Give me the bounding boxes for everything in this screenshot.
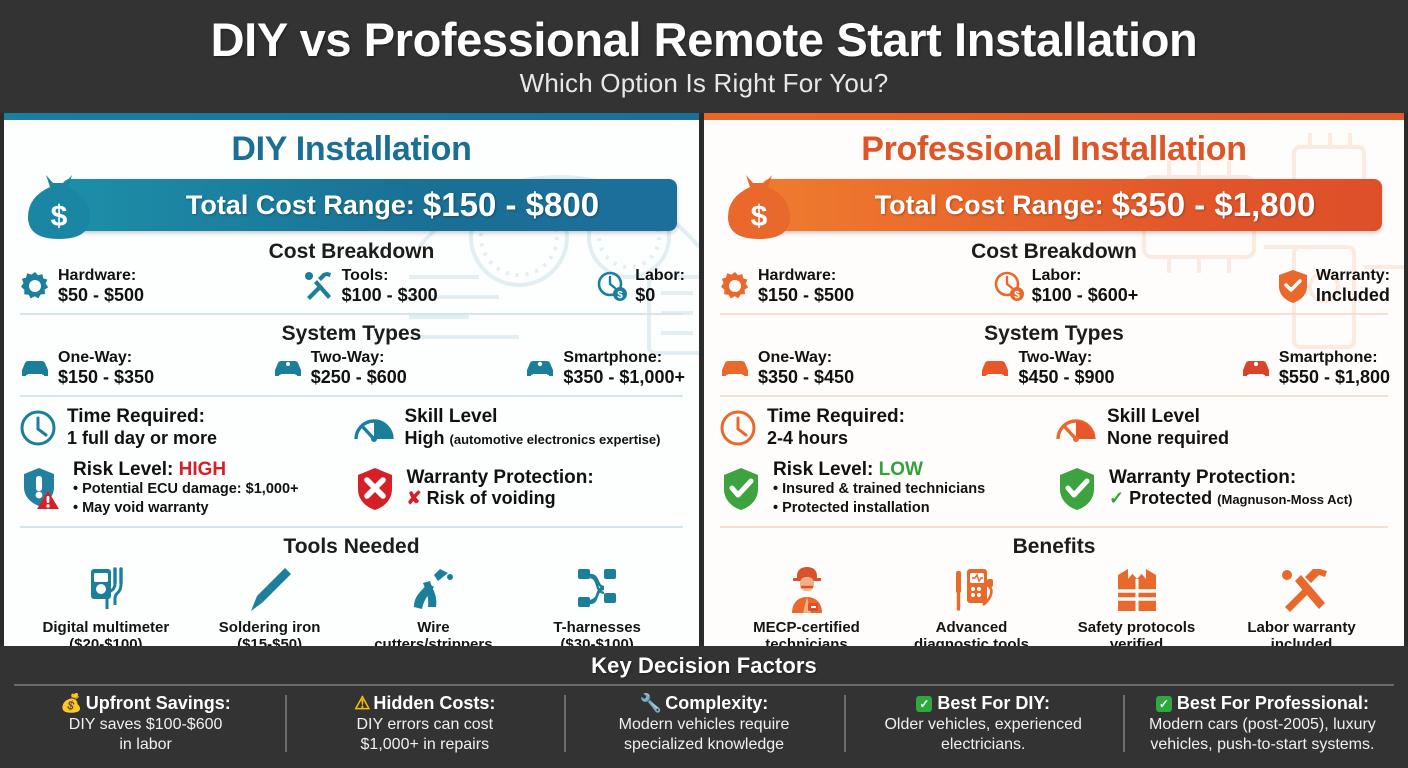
diy-tool-soldering-iron: Soldering iron ($15-$50) [188,563,352,646]
pro-benefit-line1: Safety protocols [1078,619,1196,636]
diy-system-smartphone: Smartphone: $350 - $1,000+ [523,349,685,387]
pro-system-value: $550 - $1,800 [1279,367,1390,387]
pro-risk-bullet-2: • Protected installation [773,499,985,518]
diy-tool-line2: ($15-$50) [237,636,302,646]
money-bag-icon: 💰 [60,693,82,713]
pro-benefit-line2: verified [1110,636,1163,646]
pro-benefit-line2: diagnostic tools [914,636,1029,646]
diy-skill-level: Skill Level High (automotive electronics… [352,406,686,449]
car-icon [718,355,752,381]
footer-item-body: Modern vehicles require specialized know… [572,715,835,754]
footer-divider [14,684,1394,686]
diy-system-value: $350 - $1,000+ [563,367,685,387]
pro-system-one-way: One-Way: $350 - $450 [718,349,854,387]
diy-tool-line1: Soldering iron [219,619,321,636]
diy-column: DIY Installation $ Total Cost Range: $15… [0,113,704,646]
pro-risk-warranty-row: Risk Level: LOW • Insured & trained tech… [718,459,1390,519]
svg-text:$: $ [751,200,768,233]
pro-warranty-protection: Warranty Protection: ✓ Protected (Magnus… [1054,459,1390,519]
diy-skill-note: (automotive electronics expertise) [450,432,661,447]
key-decision-factors: Key Decision Factors 💰Upfront Savings: D… [0,646,1408,768]
footer-item-complexity: 🔧Complexity: Modern vehicles require spe… [564,693,843,754]
diy-tool-line2: cutters/strippers [374,636,492,646]
money-bag-icon: $ [720,171,798,239]
pro-cost-item-value: $100 - $600+ [1032,285,1139,305]
pro-cost-label: Total Cost Range: [875,190,1104,221]
pro-benefit-diagnostic-tools: Advanced diagnostic tools [889,563,1054,646]
footer-item-body: Older vehicles, experienced electricians… [852,715,1115,754]
pro-warranty-value: Protected [1129,488,1212,508]
pro-top-accent-bar [704,113,1404,120]
diy-system-label: Smartphone: [563,349,685,367]
diy-cost-item-value: $0 [635,285,685,305]
pro-system-label: Two-Way: [1018,349,1114,367]
header: DIY vs Professional Remote Start Install… [0,0,1408,113]
car-icon [271,355,305,381]
pro-risk-label: Risk Level: [773,459,873,480]
pro-system-value: $450 - $900 [1018,367,1114,387]
t-harness-icon [570,563,624,617]
pro-benefit-line2: included [1271,636,1333,646]
diy-tool-line2: ($20-$100) [69,636,142,646]
pro-skill-level: Skill Level None required [1054,406,1390,449]
pro-cost-item-labor: $ Labor: $100 - $600+ [992,267,1139,305]
gear-icon [718,269,752,303]
pro-skill-label: Skill Level [1107,406,1229,428]
pro-system-types-row: One-Way: $350 - $450 Two-Way: $450 - $9 [718,349,1390,387]
pro-benefit-technician: MECP-certified technicians [724,563,889,646]
page-title: DIY vs Professional Remote Start Install… [211,16,1198,65]
diy-system-one-way: One-Way: $150 - $350 [18,349,154,387]
diy-system-types-row: One-Way: $150 - $350 Two-Way: [18,349,685,387]
footer-item-upfront-savings: 💰Upfront Savings: DIY saves $100-$600 in… [6,693,285,754]
pro-benefit-line1: MECP-certified [753,619,860,636]
pro-cost-item-value: $150 - $500 [758,285,854,305]
divider [720,526,1388,528]
diy-cost-item-tools: Tools: $100 - $300 [302,267,438,305]
diy-warranty-label: Warranty Protection: [407,467,594,489]
diy-cost-item-label: Hardware: [58,267,144,285]
pro-cost-item-value: Included [1316,285,1390,305]
pro-cost-item-label: Hardware: [758,267,854,285]
pro-benefit-labor-warranty: Labor warranty included [1219,563,1384,646]
pro-system-label: One-Way: [758,349,854,367]
pro-risk-level: Risk Level: LOW • Insured & trained tech… [718,459,1054,519]
diy-warranty-protection: Warranty Protection: ✘ Risk of voiding [352,459,686,519]
pro-risk-value: LOW [879,459,923,480]
pro-risk-bullet-1: • Insured & trained technicians [773,480,985,499]
diy-time-label: Time Required: [67,406,217,428]
check-box-icon: ✓ [1156,696,1172,712]
diy-warranty-value: Risk of voiding [427,488,556,508]
pro-warranty-note: (Magnuson-Moss Act) [1217,492,1352,507]
pro-skill-value: None required [1107,428,1229,450]
diy-tools-title: Tools Needed [18,535,685,559]
diy-risk-level: Risk Level: HIGH • Potential ECU damage:… [18,459,352,519]
diy-tools-grid: Digital multimeter ($20-$100) Soldering … [18,563,685,646]
diy-cost-item-hardware: Hardware: $50 - $500 [18,267,144,305]
shield-check-icon [1054,465,1100,511]
svg-text:$: $ [1014,290,1020,301]
svg-text:$: $ [51,200,68,233]
footer-item-heading: Best For DIY: [937,693,1050,713]
pro-cost-item-label: Warranty: [1316,267,1390,285]
car-icon [1239,355,1273,381]
pro-benefit-line2: technicians [765,636,848,646]
pro-cost-item-label: Labor: [1032,267,1139,285]
footer-item-best-for-diy: ✓ Best For DIY: Older vehicles, experien… [844,693,1123,754]
diy-cost-breakdown-title: Cost Breakdown [18,240,685,264]
diy-warranty-mark: ✘ [407,488,422,508]
car-icon [18,355,52,381]
divider [720,395,1388,397]
diy-top-accent-bar [4,113,699,120]
footer-grid: 💰Upfront Savings: DIY saves $100-$600 in… [0,693,1408,754]
technician-icon [780,563,834,617]
footer-item-heading: Best For Professional: [1177,693,1369,713]
pro-system-smartphone: Smartphone: $550 - $1,800 [1239,349,1390,387]
footer-item-body: DIY saves $100-$600 in labor [14,715,277,754]
gear-icon [18,269,52,303]
pro-benefits-title: Benefits [718,535,1390,559]
footer-title: Key Decision Factors [0,646,1408,679]
pro-system-label: Smartphone: [1279,349,1390,367]
diy-tool-wire-cutters: Wire cutters/strippers [352,563,516,646]
pro-cost-breakdown-row: Hardware: $150 - $500 $ Labor: [718,267,1390,305]
footer-item-body: Modern cars (post-2005), luxury vehicles… [1131,715,1394,754]
diy-skill-label: Skill Level [405,406,661,428]
diy-time-skill-row: Time Required: 1 full day or more Skil [18,406,685,449]
pro-time-skill-row: Time Required: 2-4 hours Skill Level [718,406,1390,449]
diy-tool-line1: Wire [417,619,449,636]
soldering-iron-icon [243,563,297,617]
pro-time-required: Time Required: 2-4 hours [718,406,1054,449]
pro-time-label: Time Required: [767,406,905,428]
shield-warning-icon [18,465,64,511]
gauge-icon [1054,409,1098,447]
diy-cost-item-label: Labor: [635,267,685,285]
warning-icon: ⚠ [354,693,370,713]
diy-risk-value: HIGH [179,459,227,480]
diy-skill-value: High [405,428,445,448]
diy-cost-pill: Total Cost Range: $150 - $800 [62,179,677,231]
pro-system-value: $350 - $450 [758,367,854,387]
page-subtitle: Which Option Is Right For You? [520,68,889,99]
diy-title: DIY Installation [18,130,685,169]
diy-risk-bullet-1: • Potential ECU damage: $1,000+ [73,480,298,499]
check-box-icon: ✓ [916,696,932,712]
safety-vest-icon [1110,563,1164,617]
pro-system-two-way: Two-Way: $450 - $900 [978,349,1114,387]
diy-time-required: Time Required: 1 full day or more [18,406,352,449]
car-icon [978,355,1012,381]
divider [20,395,683,397]
diy-cost-label: Total Cost Range: [186,190,415,221]
diy-time-value: 1 full day or more [67,428,217,450]
shield-check-icon [1276,268,1310,304]
pro-column: Professional Installation $ Total Cost R… [704,113,1408,646]
infographic-page: DIY vs Professional Remote Start Install… [0,0,1408,768]
diy-cost-item-label: Tools: [342,267,438,285]
diy-system-value: $150 - $350 [58,367,154,387]
pro-benefits-grid: MECP-certified technicians [718,563,1390,646]
footer-item-heading: Complexity: [665,693,768,713]
pro-cost-amount: $350 - $1,800 [1112,186,1316,224]
footer-item-heading: Hidden Costs: [373,693,495,713]
pro-time-value: 2-4 hours [767,428,905,450]
diy-system-types-title: System Types [18,322,685,346]
wrench-screwdriver-icon [1275,563,1329,617]
pro-title: Professional Installation [718,130,1390,169]
pro-cost-pill-wrap: $ Total Cost Range: $350 - $1,800 [718,175,1390,233]
svg-text:$: $ [617,290,623,301]
pro-cost-breakdown-title: Cost Breakdown [718,240,1390,264]
gauge-icon [352,409,396,447]
pro-benefit-line1: Advanced [936,619,1008,636]
divider [720,313,1388,315]
clock-icon [718,408,758,448]
pro-warranty-label: Warranty Protection: [1109,467,1352,489]
footer-item-hidden-costs: ⚠Hidden Costs: DIY errors can cost $1,00… [285,693,564,754]
diy-cost-amount: $150 - $800 [423,186,599,224]
divider [20,313,683,315]
diy-cost-item-labor: $ Labor: $0 [595,267,685,305]
pro-cost-item-hardware: Hardware: $150 - $500 [718,267,854,305]
diy-cost-item-value: $50 - $500 [58,285,144,305]
diy-risk-bullet-2: • May void warranty [73,499,298,518]
diy-tool-line1: Digital multimeter [43,619,170,636]
pro-benefit-line1: Labor warranty [1247,619,1355,636]
clock-money-icon: $ [992,269,1026,303]
footer-item-best-for-professional: ✓ Best For Professional: Modern cars (po… [1123,693,1402,754]
diy-tool-line1: T-harnesses [553,619,641,636]
multimeter-icon [79,563,133,617]
diy-system-label: Two-Way: [311,349,407,367]
pro-system-types-title: System Types [718,322,1390,346]
clock-icon [18,408,58,448]
pro-cost-item-warranty: Warranty: Included [1276,267,1390,305]
diagnostic-tool-icon [945,563,999,617]
pro-cost-pill: Total Cost Range: $350 - $1,800 [762,179,1382,231]
wrench-icon: 🔧 [640,693,662,713]
pro-benefit-safety-protocols: Safety protocols verified [1054,563,1219,646]
diy-system-value: $250 - $600 [311,367,407,387]
diy-risk-label: Risk Level: [73,459,173,480]
money-bag-icon: $ [20,171,98,239]
diy-system-two-way: Two-Way: $250 - $600 [271,349,407,387]
clock-money-icon: $ [595,269,629,303]
footer-item-heading: Upfront Savings: [86,693,231,713]
wire-cutters-icon [406,563,460,617]
diy-cost-pill-wrap: $ Total Cost Range: $150 - $800 [18,175,685,233]
diy-tool-t-harness: T-harnesses ($30-$100) [515,563,679,646]
diy-risk-warranty-row: Risk Level: HIGH • Potential ECU damage:… [18,459,685,519]
diy-cost-item-value: $100 - $300 [342,285,438,305]
comparison-columns: DIY Installation $ Total Cost Range: $15… [0,113,1408,646]
tools-icon [302,269,336,303]
car-icon [523,355,557,381]
shield-check-icon [718,465,764,511]
diy-system-label: One-Way: [58,349,154,367]
shield-x-icon [352,465,398,511]
divider [20,526,683,528]
footer-item-body: DIY errors can cost $1,000+ in repairs [293,715,556,754]
diy-tool-multimeter: Digital multimeter ($20-$100) [24,563,188,646]
pro-warranty-mark: ✓ [1109,488,1124,508]
diy-cost-breakdown-row: Hardware: $50 - $500 Tools: [18,267,685,305]
diy-tool-line2: ($30-$100) [560,636,633,646]
